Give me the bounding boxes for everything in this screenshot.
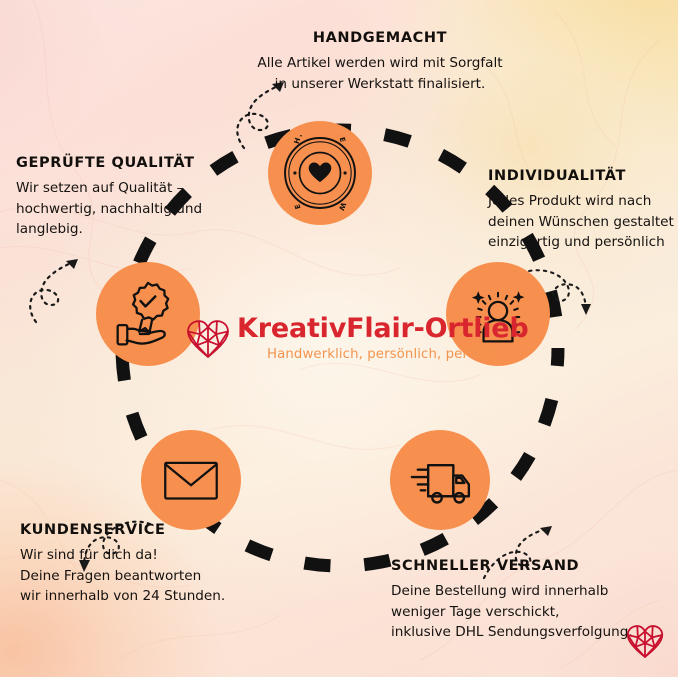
feature-body-handgemacht: Alle Artikel werden wird mit Sorgfalt in… [230, 53, 530, 94]
infographic-canvas: HANDMADE WITH LOVE [0, 0, 678, 677]
feature-title-gepruefte-qualitaet: GEPRÜFTE QUALITÄT [16, 155, 231, 171]
node-gepruefte-qualitaet[interactable] [96, 262, 200, 366]
handmade-with-love-stamp-icon: HANDMADE WITH LOVE [282, 135, 358, 211]
node-schneller-versand[interactable] [390, 430, 490, 530]
feature-body-gepruefte-qualitaet: Wir setzen auf Qualität – hochwertig, na… [16, 178, 231, 240]
envelope-icon [158, 447, 224, 513]
feature-block-kundenservice: KUNDENSERVICE Wir sind für dich da! Dein… [20, 522, 250, 607]
svg-text:WITH LOVE: WITH LOVE [292, 201, 348, 211]
brand-logo[interactable]: KreativFlair-Ortlieb Handwerklich, persö… [186, 315, 529, 363]
feature-title-schneller-versand: SCHNELLER VERSAND [391, 558, 671, 574]
feature-block-gepruefte-qualitaet: GEPRÜFTE QUALITÄT Wir setzen auf Qualitä… [16, 155, 231, 240]
delivery-truck-icon [403, 443, 477, 517]
feature-title-handgemacht: HANDGEMACHT [230, 30, 530, 46]
feature-block-handgemacht: HANDGEMACHT Alle Artikel werden wird mit… [230, 30, 530, 94]
brand-wordmark: KreativFlair-Ortlieb Handwerklich, persö… [237, 315, 529, 362]
corner-geometric-heart-icon [626, 624, 664, 663]
brand-tagline: Handwerklich, persönlich, perfekt. [237, 347, 529, 362]
geometric-heart-icon [186, 319, 230, 363]
feature-body-kundenservice: Wir sind für dich da! Deine Fragen beant… [20, 545, 250, 607]
svg-text:HANDMADE: HANDMADE [292, 135, 348, 145]
feature-title-individualitaet: INDIVIDUALITÄT [488, 168, 678, 184]
feature-title-kundenservice: KUNDENSERVICE [20, 522, 250, 538]
feature-block-individualitaet: INDIVIDUALITÄT Jedes Produkt wird nach d… [488, 168, 678, 253]
node-kundenservice[interactable] [141, 430, 241, 530]
brand-name: KreativFlair-Ortlieb [237, 315, 529, 342]
hand-holding-quality-badge-icon [111, 277, 185, 351]
feature-body-individualitaet: Jedes Produkt wird nach deinen Wünschen … [488, 191, 678, 253]
node-handgemacht[interactable]: HANDMADE WITH LOVE [268, 121, 372, 225]
